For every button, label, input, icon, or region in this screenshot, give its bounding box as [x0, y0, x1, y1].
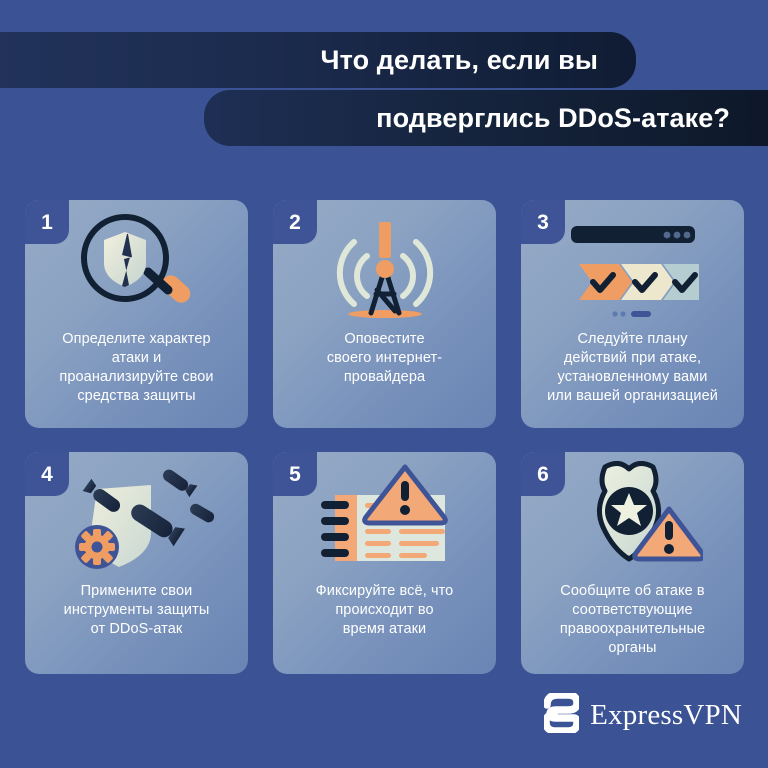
expressvpn-e-mark-icon [544, 693, 579, 738]
step-card-6[interactable]: 6 Сообщите об атаке в соответствующие пр… [521, 452, 744, 674]
step-card-4[interactable]: 4 [25, 452, 248, 674]
step-number-badge: 6 [521, 452, 565, 496]
page-title-line-2: подверглись DDoS-атаке? [376, 103, 730, 134]
step-number-badge: 1 [25, 200, 69, 244]
header-banner: Что делать, если вы подверглись DDoS-ата… [0, 0, 768, 155]
step-card-1[interactable]: 1 Определите характер атаки и проанализи… [25, 200, 248, 428]
steps-grid: 1 Определите характер атаки и проанализи… [25, 200, 743, 674]
step-description: Фиксируйте всё, что происходит во время … [304, 582, 466, 639]
title-band-top: Что делать, если вы [0, 32, 636, 88]
step-number-badge: 4 [25, 452, 69, 496]
step-description: Следуйте плану действий при атаке, устан… [535, 330, 730, 406]
step-description: Определите характер атаки и проанализиру… [47, 330, 225, 406]
step-number-badge: 3 [521, 200, 565, 244]
step-card-5[interactable]: 5 [273, 452, 496, 674]
brand-name: ExpressVPN [590, 699, 742, 732]
brand-footer: ExpressVPN [544, 693, 742, 738]
step-card-2[interactable]: 2 Оповестите своего интернет- пр [273, 200, 496, 428]
step-number-badge: 2 [273, 200, 317, 244]
page-title-line-1: Что делать, если вы [321, 45, 598, 76]
step-number-badge: 5 [273, 452, 317, 496]
step-card-3[interactable]: 3 [521, 200, 744, 428]
step-description: Сообщите об атаке в соответствующие прав… [548, 582, 717, 658]
step-description: Оповестите своего интернет- провайдера [315, 330, 454, 387]
title-band-bottom: подверглись DDoS-атаке? [204, 90, 768, 146]
step-description: Примените свои инструменты защиты от DDo… [52, 582, 222, 639]
